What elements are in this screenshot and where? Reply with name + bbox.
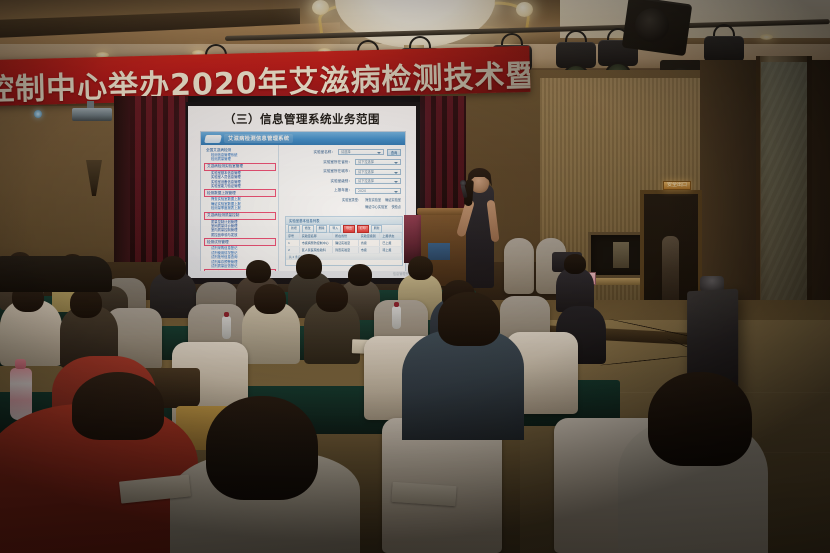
audience-head [160, 256, 186, 280]
app-logo-icon [204, 135, 222, 143]
tree-item: 质控品申领与发放 [204, 233, 276, 237]
audience-head [254, 284, 286, 314]
grid-column-header: 实验室级别 [359, 233, 381, 239]
form-label: 实验室所在城市： [323, 169, 352, 174]
empty-chair [504, 238, 534, 294]
audience-head [348, 264, 372, 286]
form-search-button: 查询 [387, 149, 401, 156]
form-row: 实验室所在城市： 请下拉选择 [284, 169, 401, 175]
slide-title: （三）信息管理系统业务范围 [188, 111, 416, 127]
app-nav-tree: 全国艾滋病检测 检测信息管理系统 检测质量管理 艾滋病检测实验室管理 实验室基本… [201, 145, 279, 271]
microphone-head-icon [460, 180, 466, 186]
toolbar-button-print: 打印 [357, 225, 369, 233]
radio-option: 快检点 [391, 204, 401, 209]
projector-lens-icon [34, 110, 42, 118]
grid-cell: 筛查实验室 [333, 247, 359, 253]
audience-member [402, 330, 524, 440]
form-input: 请下拉选择 [355, 178, 401, 184]
radio-option: 确证实验室 [385, 197, 401, 202]
tree-item: 检测质量管理 [204, 157, 276, 161]
form-label: 实验室所在省份： [323, 160, 352, 165]
audience-head [72, 372, 164, 440]
grid-cell: 2 [286, 247, 300, 253]
form-input: 请下拉选择 [355, 169, 401, 175]
audience-head [70, 288, 102, 318]
grid-cell: 已上报 [380, 240, 402, 246]
grid-cell: 市级 [359, 247, 381, 253]
audience-head [206, 396, 318, 500]
podium-emblem [428, 243, 450, 260]
grid-cell: 待上报 [380, 247, 402, 253]
radio-option: 确证中心实验室 [365, 204, 387, 209]
toolbar-button-add: 新增 [288, 225, 300, 233]
radio-row: 确证中心实验室 快检点 [284, 204, 401, 209]
grid-header-row: 序号 实验室名称 所在省份 实验室级别 上报状态 [286, 233, 402, 240]
grid-cell: 市疾病预防控制中心 [300, 240, 333, 246]
tree-group-head: 艾滋病检测质量控制 [204, 212, 276, 220]
grid-toolbar: 新增 修改 删除 导入 导出 打印 刷新 [286, 225, 402, 233]
table-row: 1 市疾病预防控制中心 确证实验室 省级 已上报 [286, 240, 402, 247]
radio-group-label: 实验室类型： [342, 197, 361, 202]
downlight-icon [760, 34, 773, 40]
radio-option: 筛查实验室 [365, 197, 381, 202]
ceiling-projector [72, 108, 112, 121]
ceiling-panel-right [560, 0, 830, 38]
form-input: 请下拉选择 [355, 159, 401, 165]
form-label: 实验室名称： [313, 150, 335, 155]
audience-head [648, 372, 752, 466]
form-label: 实验室级别： [330, 179, 352, 184]
audience-head [246, 260, 271, 283]
audience-head [316, 282, 348, 312]
audience-head [408, 256, 433, 280]
grid-cell: 区人民医院检验科 [300, 247, 333, 253]
toolbar-button-edit: 修改 [302, 225, 314, 233]
tree-group: 检测数据上报管理 筛查实验室数据上报 确证实验室数据上报 检测量季度报表上报 [204, 189, 276, 210]
app-header-bar: 艾滋病检测信息管理系统 [201, 132, 405, 145]
person-in-doorway [662, 236, 679, 310]
grid-column-header: 上报状态 [380, 233, 402, 239]
pink-water-bottle [10, 368, 32, 420]
toolbar-button-export: 导出 [343, 225, 355, 233]
grid-column-header: 所在省份 [333, 233, 359, 239]
form-input: 请选择 [338, 149, 384, 155]
grid-cell: 省级 [359, 240, 381, 246]
tree-item: 检测量季度报表上报 [204, 206, 276, 210]
toolbar-button-import: 导入 [329, 225, 341, 233]
tree-group: 艾滋病检测实验室管理 实验室基本信息管理 实验室人员信息管理 实验室设备信息管理… [204, 163, 276, 189]
audience-head [564, 254, 586, 274]
slide-surface: （三）信息管理系统业务范围 艾滋病检测信息管理系统 全国艾滋病检测 检测信息管理… [188, 106, 416, 278]
tree-group: 全国艾滋病检测 检测信息管理系统 检测质量管理 [204, 148, 276, 162]
chandelier-bulb [312, 0, 329, 15]
water-bottle [222, 316, 231, 339]
radio-row: 实验室类型： 筛查实验室 确证实验室 [284, 197, 401, 202]
audience-head [296, 254, 322, 279]
app-title: 艾滋病检测信息管理系统 [224, 134, 293, 143]
form-input: 2020 [355, 188, 401, 194]
tree-group: 艾滋病检测质量控制 质量控制计划管理 室间质量评价管理 室内质量控制管理 质控品… [204, 212, 276, 238]
tree-item: 实验室能力验证管理 [204, 184, 276, 188]
grid-cell: 1 [286, 240, 300, 246]
grid-column-header: 实验室名称 [300, 233, 333, 239]
tree-group-head: 艾滋病检测实验室管理 [204, 163, 276, 171]
conference-hall-photo: 安全出口 控制中心举办2020年艾滋病检测技术暨质量控制培训班 （三）信息管理系… [0, 0, 830, 553]
grid-column-header: 序号 [286, 233, 300, 239]
form-row: 上报年度： 2020 [284, 188, 401, 194]
grand-piano [0, 256, 112, 292]
form-label: 上报年度： [334, 188, 352, 193]
chandelier-bulb [516, 2, 533, 17]
table-row: 2 区人民医院检验科 筛查实验室 市级 待上报 [286, 247, 402, 254]
hanging-speaker [622, 0, 693, 56]
form-row: 实验室所在省份： 请下拉选择 [284, 159, 401, 165]
form-row: 实验室名称： 请选择 查询 [284, 149, 401, 156]
audience-head [438, 292, 500, 346]
exit-sign-label: 安全出口 [664, 182, 690, 189]
toolbar-button-delete: 删除 [316, 225, 328, 233]
slide-app-screenshot: 艾滋病检测信息管理系统 全国艾滋病检测 检测信息管理系统 检测质量管理 艾滋病检… [200, 131, 406, 271]
grid-cell: 确证实验室 [333, 240, 359, 246]
form-row: 实验室级别： 请下拉选择 [284, 178, 401, 184]
water-bottle [392, 306, 401, 329]
toolbar-button-refresh: 刷新 [371, 225, 383, 233]
